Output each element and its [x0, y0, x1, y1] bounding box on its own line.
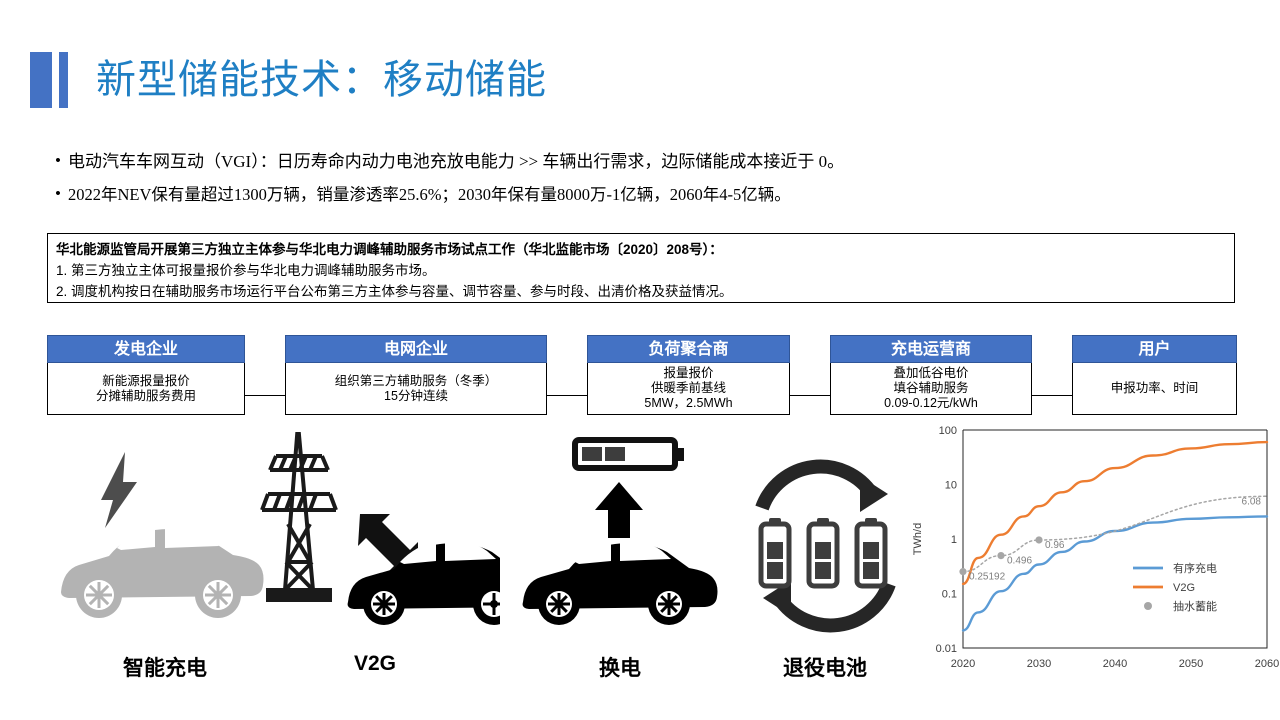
icon-illustration-row	[0, 432, 900, 672]
svg-text:2030: 2030	[1027, 658, 1051, 670]
chain-node-line: 5MW，2.5MWh	[644, 396, 732, 411]
icon-label-battery-swap: 换电	[515, 652, 725, 682]
chain-node-line: 叠加低谷电价	[893, 366, 968, 381]
policy-heading: 华北能源监管局开展第三方独立主体参与华北电力调峰辅助服务市场试点工作（华北监能市…	[56, 239, 1226, 260]
chain-connector	[245, 395, 285, 396]
value-chain-diagram: 发电企业 新能源报量报价 分摊辅助服务费用 电网企业 组织第三方辅助服务（冬季）…	[47, 335, 1237, 421]
chain-node-title: 发电企业	[47, 335, 245, 363]
chain-node-title: 用户	[1072, 335, 1237, 363]
chain-node-line: 分摊辅助服务费用	[96, 389, 196, 404]
battery-icon	[575, 440, 684, 468]
svg-text:2040: 2040	[1103, 658, 1127, 670]
bullet-text: 2022年NEV保有量超过1300万辆，销量渗透率25.6%；2030年保有量8…	[68, 183, 791, 206]
chain-node-charging-operator[interactable]: 充电运营商 叠加低谷电价 填谷辅助服务 0.09-0.12元/kWh	[830, 335, 1032, 415]
chain-node-user[interactable]: 用户 申报功率、时间	[1072, 335, 1237, 415]
svg-text:1: 1	[951, 534, 957, 546]
chain-node-aggregator[interactable]: 负荷聚合商 报量报价 供暖季前基线 5MW，2.5MWh	[587, 335, 790, 415]
chain-node-title: 电网企业	[285, 335, 547, 363]
icon-cell-v2g	[250, 432, 500, 647]
svg-text:6.08: 6.08	[1242, 496, 1262, 507]
svg-text:TWh/d: TWh/d	[912, 523, 924, 555]
battery-cell	[857, 518, 885, 586]
chain-node-line: 0.09-0.12元/kWh	[884, 396, 978, 411]
chain-node-generation[interactable]: 发电企业 新能源报量报价 分摊辅助服务费用	[47, 335, 245, 415]
chain-node-title: 充电运营商	[830, 335, 1032, 363]
gray-car-with-lightning-icon	[55, 432, 275, 642]
battery-uparrow-car-icon	[515, 432, 725, 642]
bullet-list: • 电动汽车车网互动（VGI）：日历寿命内动力电池充放电能力 >> 车辆出行需求…	[48, 150, 1248, 216]
icon-label-smart-charging: 智能充电	[55, 652, 275, 682]
svg-text:抽水蓄能: 抽水蓄能	[1173, 599, 1217, 613]
icon-label-v2g: V2G	[250, 652, 500, 676]
chain-node-body: 新能源报量报价 分摊辅助服务费用	[47, 363, 245, 415]
bullet-marker: •	[48, 183, 68, 205]
tower-bidirectional-arrow-car-icon	[250, 432, 500, 642]
chain-connector	[790, 395, 830, 396]
chain-node-body: 申报功率、时间	[1072, 363, 1237, 415]
policy-callout-box: 华北能源监管局开展第三方独立主体参与华北电力调峰辅助服务市场试点工作（华北监能市…	[47, 233, 1235, 303]
svg-text:0.25192: 0.25192	[969, 572, 1006, 583]
svg-text:2050: 2050	[1179, 658, 1203, 670]
svg-text:100: 100	[939, 425, 957, 437]
bullet-marker: •	[48, 150, 68, 172]
chain-node-line: 15分钟连续	[384, 389, 448, 404]
chain-connector	[1032, 395, 1072, 396]
svg-text:10: 10	[945, 480, 957, 492]
chain-node-title: 负荷聚合商	[587, 335, 790, 363]
ev-storage-capacity-chart: 1001010.10.01TWh/d202020302040205020600.…	[905, 420, 1280, 688]
svg-text:0.496: 0.496	[1007, 556, 1032, 567]
page-title: 新型储能技术：移动储能	[96, 60, 547, 100]
bullet-item: • 电动汽车车网互动（VGI）：日历寿命内动力电池充放电能力 >> 车辆出行需求…	[48, 150, 1248, 173]
svg-text:0.1: 0.1	[942, 589, 957, 601]
policy-item: 1. 第三方独立主体可报量报价参与华北电力调峰辅助服务市场。	[56, 260, 1226, 281]
svg-text:V2G: V2G	[1173, 582, 1195, 594]
chain-node-line: 新能源报量报价	[102, 374, 190, 389]
svg-text:2060: 2060	[1255, 658, 1279, 670]
chain-node-body: 组织第三方辅助服务（冬季） 15分钟连续	[285, 363, 547, 415]
icon-cell-retired-battery	[748, 432, 903, 647]
chain-node-line: 申报功率、时间	[1111, 381, 1199, 396]
icon-cell-battery-swap	[515, 432, 725, 647]
battery-cell	[809, 518, 837, 586]
chain-node-body: 叠加低谷电价 填谷辅助服务 0.09-0.12元/kWh	[830, 363, 1032, 415]
chain-connector	[547, 395, 587, 396]
title-accent-bar-thin	[59, 52, 68, 108]
icon-cell-smart-charging	[55, 432, 275, 647]
bullet-text: 电动汽车车网互动（VGI）：日历寿命内动力电池充放电能力 >> 车辆出行需求，边…	[68, 150, 844, 173]
svg-text:有序充电: 有序充电	[1173, 561, 1217, 575]
svg-text:0.96: 0.96	[1045, 540, 1065, 551]
bullet-item: • 2022年NEV保有量超过1300万辆，销量渗透率25.6%；2030年保有…	[48, 183, 1248, 206]
svg-text:0.01: 0.01	[936, 643, 957, 655]
chain-node-grid[interactable]: 电网企业 组织第三方辅助服务（冬季） 15分钟连续	[285, 335, 547, 415]
chain-node-line: 报量报价	[663, 366, 713, 381]
chain-node-line: 供暖季前基线	[651, 381, 726, 396]
title-accent-bar-wide	[30, 52, 52, 108]
three-batteries-recycle-icon	[748, 432, 903, 642]
svg-text:2020: 2020	[951, 658, 975, 670]
icon-label-retired-battery: 退役电池	[730, 652, 920, 682]
chain-node-line: 填谷辅助服务	[893, 381, 968, 396]
policy-item: 2. 调度机构按日在辅助服务市场运行平台公布第三方主体参与容量、调节容量、参与时…	[56, 281, 1226, 302]
chain-node-line: 组织第三方辅助服务（冬季）	[335, 374, 498, 389]
chain-node-body: 报量报价 供暖季前基线 5MW，2.5MWh	[587, 363, 790, 415]
battery-cell	[761, 518, 789, 586]
slide-title-row: 新型储能技术：移动储能	[30, 52, 547, 108]
